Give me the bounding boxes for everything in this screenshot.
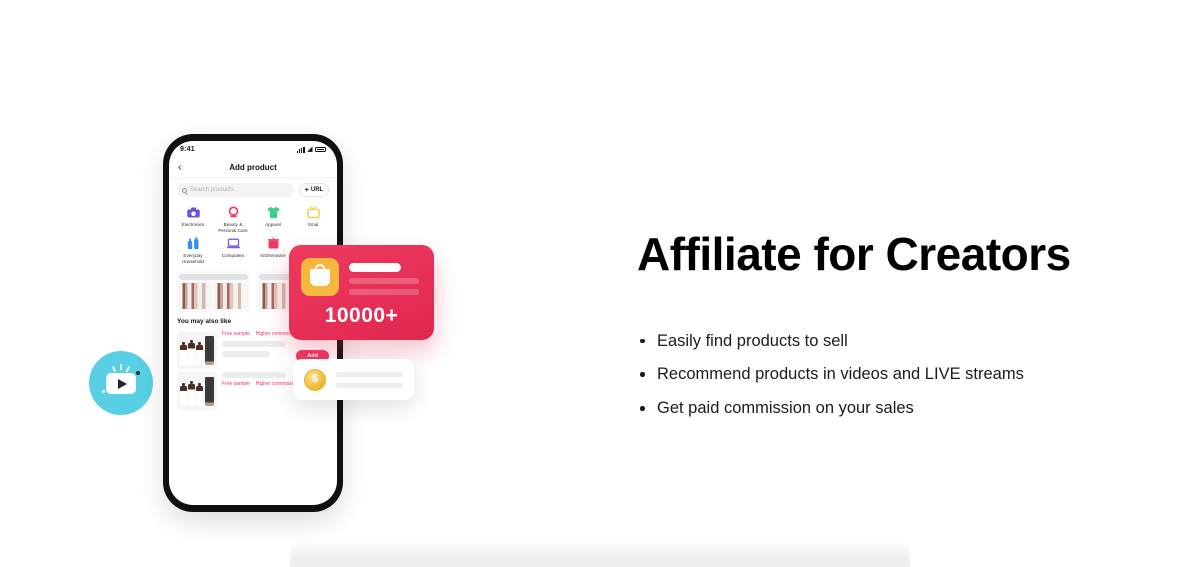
- product-card[interactable]: [176, 271, 251, 312]
- bullet-dot-icon: [640, 406, 645, 411]
- bullet-dot-icon: [640, 339, 645, 344]
- category-computers[interactable]: Computers: [213, 236, 253, 264]
- product-image: [177, 372, 217, 410]
- page-headline: Affiliate for Creators: [637, 228, 1137, 281]
- status-time: 9:41: [180, 146, 195, 153]
- placeholder-bar-secondary: [349, 278, 419, 284]
- category-kitchenware[interactable]: Kitchenware: [253, 236, 293, 264]
- category-label: Beauty & Personal Care: [215, 222, 251, 233]
- tv-icon: [306, 205, 321, 220]
- coin-icon: $: [304, 369, 326, 391]
- category-everyday-household[interactable]: Everyday Household: [173, 236, 213, 264]
- sparkle-line-left: [112, 366, 117, 372]
- tube-shape: [205, 336, 214, 365]
- commission-card: $: [293, 359, 414, 400]
- affiliate-stat-card: 10000+: [289, 245, 434, 340]
- wifi-icon: ◢: [307, 146, 312, 153]
- tshirt-icon: [266, 205, 281, 220]
- hero-text-column: Affiliate for Creators Easily find produ…: [637, 228, 1137, 430]
- search-icon: [182, 188, 187, 193]
- list-item-label: Easily find products to sell: [657, 332, 848, 350]
- video-play-badge[interactable]: [89, 351, 153, 415]
- feature-list: Easily find products to sell Recommend p…: [637, 329, 1137, 422]
- product-image: [177, 331, 217, 369]
- decor-dot-light: [102, 390, 105, 393]
- placeholder-bar-secondary: [349, 289, 419, 295]
- hero-illustration: 9:41 ◢ ‹ Add product Search products: [80, 118, 500, 518]
- pot-icon: [266, 236, 281, 251]
- phone-status-bar: 9:41 ◢: [169, 141, 337, 158]
- bottle-shape: [196, 386, 203, 406]
- category-label: Computers: [222, 253, 244, 259]
- signal-icon: [297, 147, 305, 153]
- category-label: Electronics: [182, 222, 204, 228]
- placeholder-bar: [222, 341, 286, 347]
- product-thumb: [179, 283, 212, 309]
- placeholder-bar: [222, 351, 270, 357]
- tag-free-sample: Free sample: [222, 331, 250, 337]
- product-thumb: [214, 283, 247, 309]
- placeholder-bar: [222, 372, 286, 378]
- sparkle-line-right: [126, 366, 131, 372]
- bottle-shape: [188, 343, 195, 365]
- category-apparel[interactable]: Apparel: [253, 205, 293, 233]
- category-label: Everyday Household: [175, 253, 211, 264]
- placeholder-bar: [336, 372, 403, 377]
- category-label: Kitchenware: [260, 253, 285, 259]
- camera-icon: [186, 205, 201, 220]
- search-placeholder: Search products: [190, 187, 234, 193]
- page-root: 9:41 ◢ ‹ Add product Search products: [0, 0, 1200, 567]
- category-electronics[interactable]: Electronics: [173, 205, 213, 233]
- product-thumb: [259, 283, 292, 309]
- status-icons: ◢: [297, 146, 326, 153]
- bottles-icon: [186, 236, 201, 251]
- tag-higher-commission: Higher commission: [256, 381, 299, 387]
- list-item: Recommend products in videos and LIVE st…: [637, 362, 1137, 388]
- category-label: Apparel: [265, 222, 281, 228]
- search-row: Search products + URL: [169, 178, 337, 201]
- list-item-label: Recommend products in videos and LIVE st…: [657, 365, 1024, 383]
- tube-shape: [205, 377, 214, 406]
- laptop-icon: [226, 236, 241, 251]
- bottle-shape: [180, 345, 187, 365]
- placeholder-bar: [179, 274, 248, 280]
- category-beauty[interactable]: Beauty & Personal Care: [213, 205, 253, 233]
- category-label: Smal: [308, 222, 318, 228]
- bottle-shape: [188, 384, 195, 406]
- play-triangle-icon: [118, 379, 127, 389]
- placeholder-bar: [336, 383, 403, 388]
- video-play-icon: [106, 373, 136, 394]
- commission-placeholder-lines: [336, 372, 403, 388]
- list-item: Easily find products to sell: [637, 329, 1137, 355]
- list-item-label: Get paid commission on your sales: [657, 399, 914, 417]
- decor-dot-dark: [136, 371, 140, 375]
- list-item: Get paid commission on your sales: [637, 396, 1137, 422]
- bullet-dot-icon: [640, 372, 645, 377]
- shopping-bag-icon: [301, 258, 339, 296]
- product-thumbs: [179, 283, 248, 309]
- category-small-appliances[interactable]: Smal: [293, 205, 333, 233]
- sparkle-line-center: [120, 364, 122, 370]
- plus-icon: +: [305, 187, 309, 194]
- product-count: 10000+: [289, 304, 434, 328]
- search-input[interactable]: Search products: [177, 183, 294, 197]
- battery-icon: [315, 147, 326, 153]
- page-bottom-edge: [290, 543, 910, 567]
- bag-body-shape: [310, 269, 330, 286]
- add-url-label: URL: [311, 187, 323, 193]
- mirror-icon: [226, 205, 241, 220]
- phone-nav-bar: ‹ Add product: [169, 158, 337, 178]
- add-url-button[interactable]: + URL: [299, 183, 329, 197]
- tag-free-sample: Free sample: [222, 381, 250, 387]
- bottle-shape: [180, 386, 187, 406]
- placeholder-bar-primary: [349, 263, 401, 272]
- page-title: Add product: [169, 163, 337, 172]
- bottle-shape: [196, 345, 203, 365]
